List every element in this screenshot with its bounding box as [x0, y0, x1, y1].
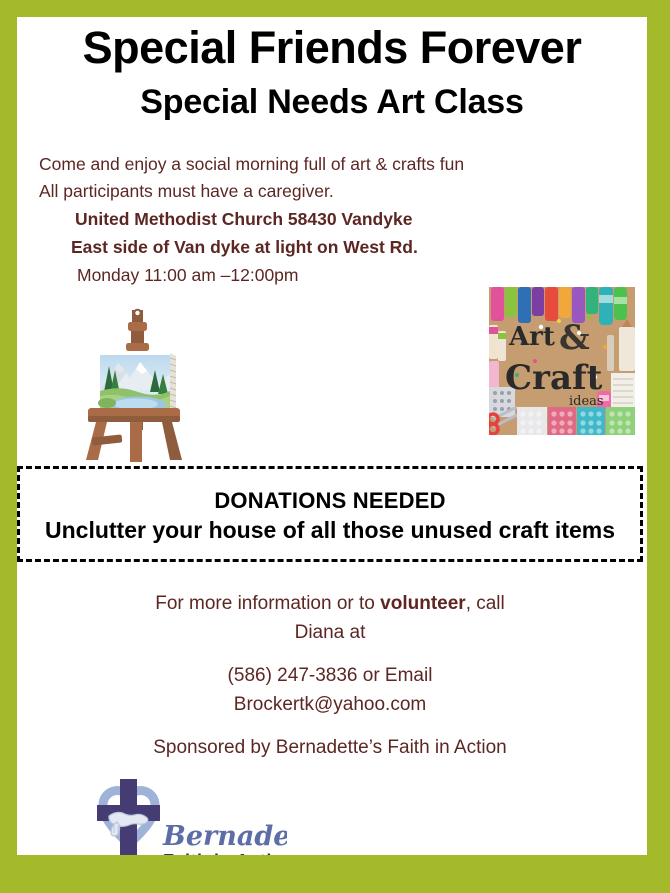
- bernadettes-faith-in-action-logo: Bernadettes Faith in Action: [67, 775, 287, 855]
- intro-line-1: Come and enjoy a social morning full of …: [39, 151, 509, 178]
- contact-call-line: For more information or to volunteer, ca…: [17, 589, 643, 618]
- sponsor-spacer: [17, 719, 643, 733]
- sponsor-line: Sponsored by Bernadette’s Faith in Actio…: [17, 733, 643, 762]
- venue-address-line-1: United Methodist Church 58430 Vandyke: [39, 205, 509, 233]
- venue-address-line-2: East side of Van dyke at light on West R…: [39, 233, 509, 261]
- logo-svg: Bernadettes Faith in Action: [67, 775, 287, 855]
- flyer-page: Special Friends Forever Special Needs Ar…: [17, 17, 647, 855]
- donations-body: Unclutter your house of all those unused…: [40, 515, 620, 545]
- easel-illustration-svg: [74, 304, 196, 464]
- contact-name: Diana at: [17, 618, 643, 647]
- contact-phone: (586) 247-3836 or Email: [17, 661, 643, 690]
- logo-script-text: Bernadettes: [162, 821, 287, 852]
- donations-heading: DONATIONS NEEDED: [214, 486, 445, 515]
- volunteer-emphasis: volunteer: [380, 593, 466, 614]
- contact-spacer: [17, 647, 643, 661]
- intro-block: Come and enjoy a social morning full of …: [39, 151, 509, 290]
- logo-tagline: Faith in Action: [163, 851, 287, 855]
- craft-photo-svg: Art & Craft ideas: [489, 287, 635, 435]
- contact-call-prefix: For more information or to: [155, 593, 380, 614]
- contact-email[interactable]: Brockertk@yahoo.com: [17, 690, 643, 719]
- class-schedule: Monday 11:00 am –12:00pm: [39, 261, 509, 290]
- art-and-craft-ideas-photo: Art & Craft ideas: [489, 287, 635, 435]
- contact-call-suffix: , call: [466, 593, 505, 614]
- svg-text:&: &: [559, 318, 590, 358]
- page-title: Special Friends Forever: [17, 24, 647, 71]
- intro-line-2: All participants must have a caregiver.: [39, 178, 509, 205]
- flyer-green-border: Special Friends Forever Special Needs Ar…: [0, 0, 670, 893]
- page-subtitle: Special Needs Art Class: [17, 84, 647, 121]
- donations-callout-box: DONATIONS NEEDED Unclutter your house of…: [17, 466, 643, 562]
- easel-with-landscape-painting-image: [74, 304, 196, 464]
- svg-text:Craft: Craft: [505, 358, 603, 398]
- svg-text:ideas: ideas: [569, 394, 604, 409]
- contact-block: For more information or to volunteer, ca…: [17, 589, 643, 762]
- svg-text:Art: Art: [508, 322, 555, 352]
